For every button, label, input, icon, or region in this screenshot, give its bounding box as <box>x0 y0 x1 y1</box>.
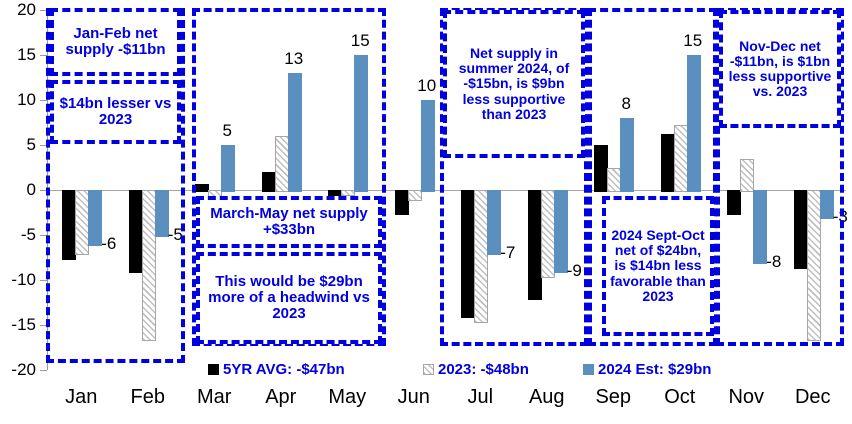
legend-item-y2023[interactable]: 2023: -$48bn <box>423 361 529 378</box>
legend-swatch-icon <box>423 364 434 375</box>
x-axis-label-dec: Dec <box>795 386 831 409</box>
x-axis-label-apr: Apr <box>265 386 296 409</box>
y-axis-tick-label: 0 <box>27 180 36 200</box>
bar-avg-jun <box>395 190 409 215</box>
y-axis-labels: 20151050-5-10-15-20 <box>0 0 44 380</box>
y-axis-tick-label: 10 <box>17 90 36 110</box>
y-axis-tick-label: -15 <box>11 315 36 335</box>
annotation-march-may-headwind: This would be $29bn more of a headwind v… <box>196 252 382 344</box>
y-axis-tick-label: 15 <box>17 45 36 65</box>
x-axis-label-jan: Jan <box>65 386 97 409</box>
x-axis-label-sep: Sep <box>595 386 631 409</box>
legend-swatch-icon <box>208 364 219 375</box>
x-axis-label-nov: Nov <box>728 386 764 409</box>
y-axis-tick-label: -20 <box>11 360 36 380</box>
bar-y2023-jun <box>408 190 422 201</box>
legend-label: 2024 Est: $29bn <box>598 361 711 378</box>
y-axis-tick-label: 5 <box>27 135 36 155</box>
chart-root: 20151050-5-10-15-20 -6-55131510-7-9815-8… <box>0 0 852 424</box>
annotation-jan-feb-lesser: $14bn lesser vs 2023 <box>50 80 181 144</box>
legend-label: 5YR AVG: -$47bn <box>223 361 345 378</box>
data-label-jun: 10 <box>412 76 442 96</box>
legend-item-avg[interactable]: 5YR AVG: -$47bn <box>208 361 345 378</box>
annotation-nov-dec-net: Nov-Dec net -$11bn, is $1bn less support… <box>719 10 841 128</box>
x-axis-label-oct: Oct <box>664 386 695 409</box>
annotation-march-may-net-supply: March-May net supply +$33bn <box>196 196 382 248</box>
y-axis-tick-label: -10 <box>11 270 36 290</box>
y-axis-tick-label: 20 <box>17 0 36 20</box>
bar-y2024-jun <box>421 100 435 192</box>
x-axis-label-jul: Jul <box>467 386 493 409</box>
legend-item-y2024[interactable]: 2024 Est: $29bn <box>583 361 711 378</box>
y-axis-tick <box>40 370 47 371</box>
annotation-jan-feb-net-supply: Jan-Feb net supply -$11bn <box>50 8 181 76</box>
legend-label: 2023: -$48bn <box>438 361 529 378</box>
x-axis-label-feb: Feb <box>131 386 165 409</box>
legend-swatch-icon <box>583 364 594 375</box>
annotation-sept-oct-net: 2024 Sept-Oct net of $24bn, is $14bn les… <box>602 196 714 336</box>
y-axis-tick-label: -5 <box>21 225 36 245</box>
x-axis-label-mar: Mar <box>197 386 231 409</box>
x-axis-label-may: May <box>328 386 366 409</box>
x-axis-label-jun: Jun <box>398 386 430 409</box>
annotation-summer-net-supply: Net supply in summer 2024, of -$15bn, is… <box>443 10 585 158</box>
x-axis-labels: JanFebMarAprMayJunJulAugSepOctNovDec <box>48 386 846 416</box>
bar-group: 10 <box>381 10 448 370</box>
x-axis-label-aug: Aug <box>529 386 565 409</box>
